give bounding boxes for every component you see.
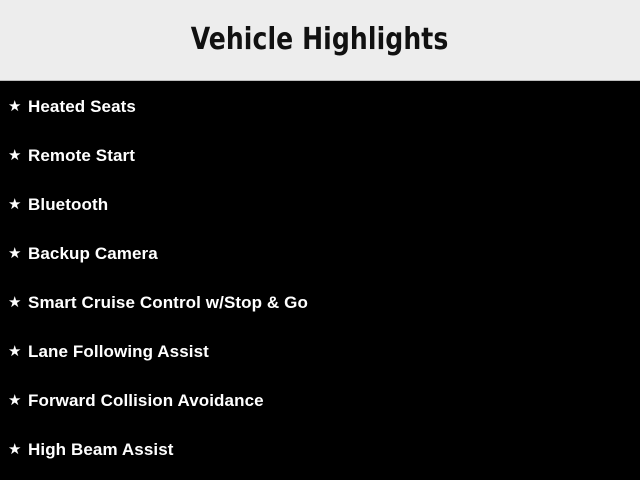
star-icon: ★ <box>8 99 28 114</box>
panel-header: Vehicle Highlights <box>0 0 640 81</box>
list-item: ★ Backup Camera <box>0 229 640 278</box>
star-icon: ★ <box>8 246 28 261</box>
star-icon: ★ <box>8 295 28 310</box>
highlight-label: Heated Seats <box>28 97 136 117</box>
highlight-label: Remote Start <box>28 146 135 166</box>
highlight-label: Backup Camera <box>28 244 158 264</box>
highlight-label: High Beam Assist <box>28 440 174 460</box>
vehicle-highlights-list: ★ Heated Seats ★ Remote Start ★ Bluetoot… <box>0 82 640 480</box>
highlight-label: Lane Following Assist <box>28 342 209 362</box>
star-icon: ★ <box>8 393 28 408</box>
star-icon: ★ <box>8 344 28 359</box>
highlight-label: Bluetooth <box>28 195 108 215</box>
vehicle-highlights-panel: Vehicle Highlights ★ Heated Seats ★ Remo… <box>0 0 640 480</box>
list-item: ★ Remote Start <box>0 131 640 180</box>
star-icon: ★ <box>8 148 28 163</box>
star-icon: ★ <box>8 197 28 212</box>
list-item: ★ Forward Collision Avoidance <box>0 376 640 425</box>
list-item: ★ Smart Cruise Control w/Stop & Go <box>0 278 640 327</box>
page-title: Vehicle Highlights <box>191 25 449 55</box>
list-item: ★ Heated Seats <box>0 82 640 131</box>
list-item: ★ High Beam Assist <box>0 425 640 474</box>
highlight-label: Smart Cruise Control w/Stop & Go <box>28 293 308 313</box>
star-icon: ★ <box>8 442 28 457</box>
list-item: ★ Lane Following Assist <box>0 327 640 376</box>
list-item: ★ Bluetooth <box>0 180 640 229</box>
highlight-label: Forward Collision Avoidance <box>28 391 264 411</box>
